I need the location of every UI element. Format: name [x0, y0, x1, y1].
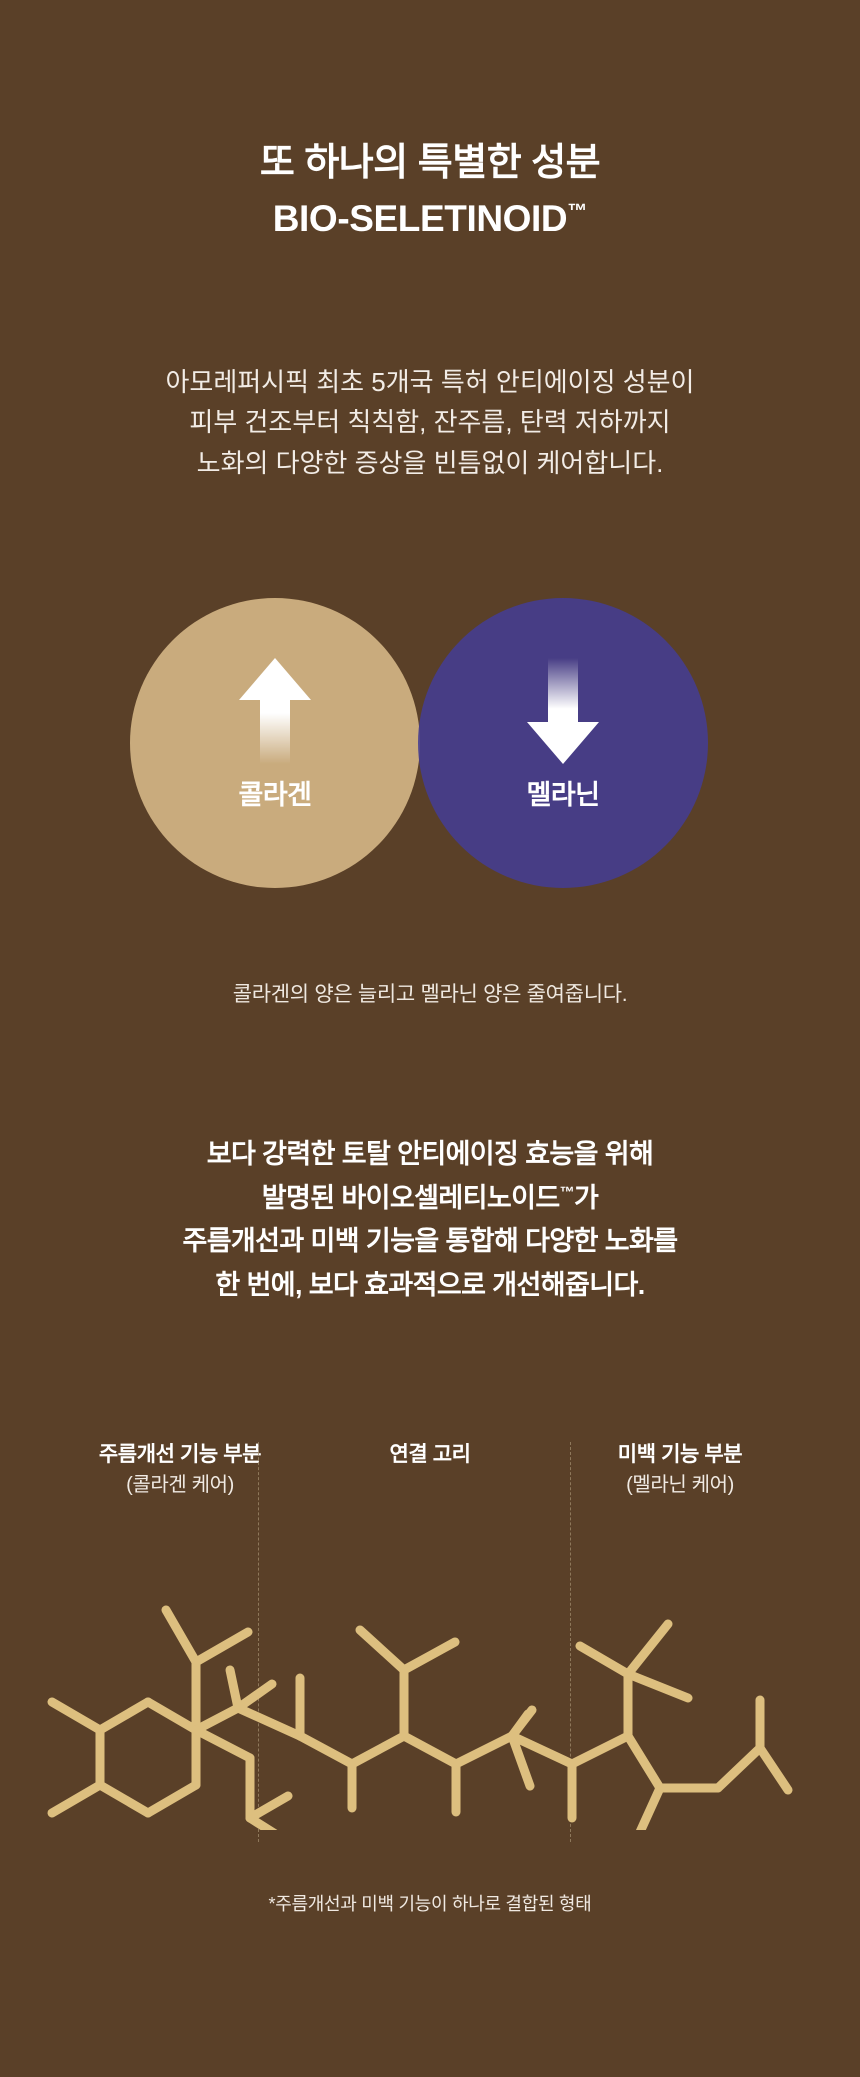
- benefit-line-2: 발명된 바이오셀레티노이드™가: [0, 1177, 860, 1221]
- promo-page: 또 하나의 특별한 성분 BIO-SELETINOID™ 아모레퍼시픽 최초 5…: [0, 0, 860, 2077]
- melanin-label: 멜라닌: [418, 773, 708, 812]
- molecule-structure-diagram: [0, 1550, 860, 1830]
- molecule-column-linker-title: 연결 고리: [310, 1440, 550, 1470]
- brand-name: BIO-SELETINOID: [273, 198, 568, 239]
- trademark-symbol-inline: ™: [560, 1184, 574, 1201]
- venn-diagram: 콜라겐 멜라닌: [0, 598, 860, 898]
- molecule-column-wrinkle-sub: (콜라겐 케어): [60, 1470, 300, 1500]
- molecule-column-whitening-sub: (멜라닌 케어): [560, 1470, 800, 1500]
- header: 또 하나의 특별한 성분 BIO-SELETINOID™: [0, 140, 860, 240]
- benefit-line-4: 한 번에, 보다 효과적으로 개선해줍니다.: [0, 1264, 860, 1308]
- molecule-column-linker: 연결 고리: [310, 1440, 550, 1470]
- molecule-footnote: *주름개선과 미백 기능이 하나로 결합된 형태: [0, 1890, 860, 1916]
- intro-line-1: 아모레퍼시픽 최초 5개국 특허 안티에이징 성분이: [0, 362, 860, 402]
- venn-caption: 콜라겐의 양은 늘리고 멜라닌 양은 줄여줍니다.: [0, 978, 860, 1008]
- collagen-label: 콜라겐: [130, 773, 420, 812]
- molecule-column-whitening: 미백 기능 부분 (멜라닌 케어): [560, 1440, 800, 1500]
- molecule-section: 주름개선 기능 부분 (콜라겐 케어) 연결 고리 미백 기능 부분 (멜라닌 …: [0, 1440, 860, 1940]
- benefit-line-1: 보다 강력한 토탈 안티에이징 효능을 위해: [0, 1133, 860, 1177]
- benefit-line-2-b: 가: [574, 1183, 598, 1213]
- arrow-up-icon: [130, 656, 420, 766]
- arrow-down-icon: [418, 656, 708, 766]
- molecule-column-labels: 주름개선 기능 부분 (콜라겐 케어) 연결 고리 미백 기능 부분 (멜라닌 …: [0, 1440, 860, 1540]
- molecule-column-wrinkle-title: 주름개선 기능 부분: [60, 1440, 300, 1470]
- intro-line-2: 피부 건조부터 칙칙함, 잔주름, 탄력 저하까지: [0, 402, 860, 442]
- brand-title: BIO-SELETINOID™: [0, 198, 860, 240]
- intro-line-3: 노화의 다양한 증상을 빈틈없이 케어합니다.: [0, 443, 860, 483]
- molecule-column-wrinkle: 주름개선 기능 부분 (콜라겐 케어): [60, 1440, 300, 1500]
- molecule-column-whitening-title: 미백 기능 부분: [560, 1440, 800, 1470]
- trademark-symbol: ™: [567, 200, 587, 222]
- intro-paragraph: 아모레퍼시픽 최초 5개국 특허 안티에이징 성분이 피부 건조부터 칙칙함, …: [0, 362, 860, 483]
- benefit-line-3: 주름개선과 미백 기능을 통합해 다양한 노화를: [0, 1220, 860, 1264]
- page-headline: 또 하나의 특별한 성분: [0, 140, 860, 188]
- benefit-paragraph: 보다 강력한 토탈 안티에이징 효능을 위해 발명된 바이오셀레티노이드™가 주…: [0, 1133, 860, 1308]
- benefit-line-2-a: 발명된 바이오셀레티노이드: [262, 1183, 560, 1213]
